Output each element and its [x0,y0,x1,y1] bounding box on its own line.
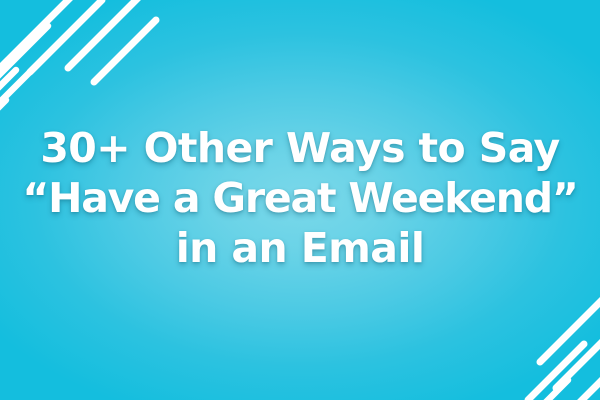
headline-line-2: “Have a Great Weekend” [0,173,600,223]
diagonal-stripes-bottom-right-icon [472,270,600,400]
title-card-banner: 30+ Other Ways to Say “Have a Great Week… [0,0,600,400]
headline-line-1: 30+ Other Ways to Say [0,123,600,173]
card-headline: 30+ Other Ways to Say “Have a Great Week… [0,123,600,273]
headline-line-3: in an Email [0,223,600,273]
